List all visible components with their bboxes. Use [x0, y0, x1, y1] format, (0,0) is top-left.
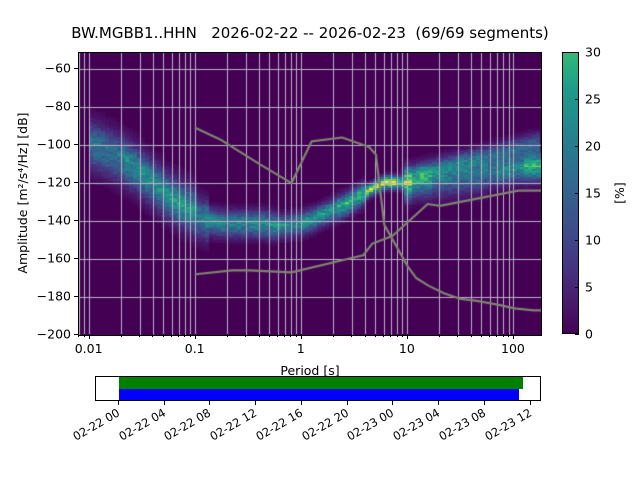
- x-axis-minor-tick-mark: [471, 334, 472, 337]
- colorbar-tick-mark: [575, 287, 579, 288]
- colorbar-tick-mark: [575, 193, 579, 194]
- y-axis-tick-label: −120: [37, 175, 71, 190]
- y-axis-tick-label: −100: [37, 137, 71, 152]
- timeline-tick-mark: [347, 401, 348, 405]
- colorbar-tick-mark: [575, 334, 579, 335]
- x-axis-minor-tick-mark: [245, 334, 246, 337]
- x-axis-tick-label: 10: [399, 341, 415, 356]
- x-axis-minor-tick-mark: [121, 334, 122, 337]
- y-axis-tick-mark: [74, 296, 78, 297]
- timeline-tick-label: 02-22 04: [116, 406, 168, 444]
- timeline-tick-mark: [392, 401, 393, 405]
- x-axis-minor-tick-mark: [390, 334, 391, 337]
- y-axis-tick-label: −140: [37, 213, 71, 228]
- x-axis-tick-label: 0.01: [75, 341, 103, 356]
- x-axis-minor-tick-mark: [284, 334, 285, 337]
- x-axis-minor-tick-mark: [397, 334, 398, 337]
- timeline-tick-label: 02-22 20: [299, 406, 351, 444]
- timeline-tick-mark: [164, 401, 165, 405]
- x-axis-minor-tick-mark: [84, 334, 85, 337]
- colorbar-tick-mark: [575, 52, 579, 53]
- x-axis-minor-tick-mark: [503, 334, 504, 337]
- colorbar-label: [%]: [612, 182, 627, 204]
- x-axis-minor-tick-mark: [163, 334, 164, 337]
- x-axis-minor-tick-mark: [259, 334, 260, 337]
- colorbar-tick-label: 30: [585, 45, 601, 60]
- ppsd-histogram-plot: [78, 52, 542, 336]
- ppsd-figure: BW.MGBB1..HHN 2026-02-22 -- 2026-02-23 (…: [0, 0, 640, 480]
- x-axis-minor-tick-mark: [277, 334, 278, 337]
- y-axis-tick-mark: [74, 258, 78, 259]
- y-axis-tick-mark: [74, 106, 78, 107]
- x-axis-major-tick-mark: [195, 334, 196, 339]
- timeline-tick-mark: [484, 401, 485, 405]
- x-axis-minor-tick-mark: [227, 334, 228, 337]
- x-axis-tick-label: 100: [501, 341, 525, 356]
- x-axis-major-tick-mark: [89, 334, 90, 339]
- x-axis-minor-tick-mark: [489, 334, 490, 337]
- timeline-tick-label: 02-23 08: [436, 406, 488, 444]
- timeline-tick-mark: [301, 401, 302, 405]
- timeline-tick-label: 02-22 16: [253, 406, 305, 444]
- x-axis-minor-tick-mark: [402, 334, 403, 337]
- timeline-tick-label: 02-23 12: [482, 406, 534, 444]
- timeline-tick-mark: [438, 401, 439, 405]
- x-axis-minor-tick-mark: [457, 334, 458, 337]
- colorbar-tick-label: 20: [585, 139, 601, 154]
- x-axis-minor-tick-mark: [178, 334, 179, 337]
- x-axis-minor-tick-mark: [184, 334, 185, 337]
- x-axis-minor-tick-mark: [269, 334, 270, 337]
- page-title: BW.MGBB1..HHN 2026-02-22 -- 2026-02-23 (…: [0, 24, 620, 42]
- y-axis-tick-mark: [74, 68, 78, 69]
- x-axis-minor-tick-mark: [508, 334, 509, 337]
- x-axis-minor-tick-mark: [290, 334, 291, 337]
- y-axis-tick-label: −60: [45, 61, 71, 76]
- colorbar-tick-mark: [575, 99, 579, 100]
- x-axis-minor-tick-mark: [78, 334, 79, 337]
- psd-segments-bar: [119, 389, 520, 401]
- y-axis-tick-mark: [74, 220, 78, 221]
- x-axis-minor-tick-mark: [333, 334, 334, 337]
- x-axis-minor-tick-mark: [296, 334, 297, 337]
- y-axis-tick-label: −80: [45, 99, 71, 114]
- x-axis-major-tick-mark: [513, 334, 514, 339]
- timeline-tick-label: 02-22 00: [70, 406, 122, 444]
- x-axis-minor-tick-mark: [496, 334, 497, 337]
- y-axis-tick-label: −180: [37, 289, 71, 304]
- x-axis-minor-tick-mark: [383, 334, 384, 337]
- data-coverage-bar: [119, 377, 524, 389]
- colorbar-tick-label: 10: [585, 233, 601, 248]
- x-axis-minor-tick-mark: [439, 334, 440, 337]
- timeline-tick-mark: [209, 401, 210, 405]
- colorbar-tick-mark: [575, 240, 579, 241]
- x-axis-minor-tick-mark: [365, 334, 366, 337]
- timeline-tick-label: 02-23 04: [391, 406, 443, 444]
- y-axis-tick-label: −160: [37, 251, 71, 266]
- histogram-canvas: [79, 53, 541, 335]
- x-axis-major-tick-mark: [301, 334, 302, 339]
- colorbar-tick-label: 15: [585, 186, 601, 201]
- timeline-tick-mark: [530, 401, 531, 405]
- x-axis-minor-tick-mark: [351, 334, 352, 337]
- y-axis-tick-label: −200: [37, 327, 71, 342]
- x-axis-minor-tick-mark: [171, 334, 172, 337]
- y-axis-label: Amplitude [m²/s⁴/Hz] [dB]: [15, 112, 30, 273]
- colorbar-tick-label: 25: [585, 92, 601, 107]
- x-axis-minor-tick-mark: [152, 334, 153, 337]
- x-axis-tick-label: 1: [297, 341, 305, 356]
- x-axis-minor-tick-mark: [481, 334, 482, 337]
- x-axis-minor-tick-mark: [139, 334, 140, 337]
- coverage-timeline[interactable]: [95, 376, 541, 401]
- x-axis-minor-tick-mark: [375, 334, 376, 337]
- x-axis-major-tick-mark: [407, 334, 408, 339]
- timeline-tick-mark: [255, 401, 256, 405]
- timeline-tick-label: 02-23 00: [345, 406, 397, 444]
- timeline-tick-mark: [118, 401, 119, 405]
- timeline-tick-label: 02-22 12: [207, 406, 259, 444]
- x-axis-tick-label: 0.1: [185, 341, 205, 356]
- x-axis-minor-tick-mark: [190, 334, 191, 337]
- colorbar-tick-mark: [575, 146, 579, 147]
- colorbar-tick-label: 5: [585, 280, 593, 295]
- y-axis-tick-mark: [74, 144, 78, 145]
- timeline-tick-label: 02-22 08: [162, 406, 214, 444]
- y-axis-tick-mark: [74, 182, 78, 183]
- colorbar-tick-label: 0: [585, 327, 593, 342]
